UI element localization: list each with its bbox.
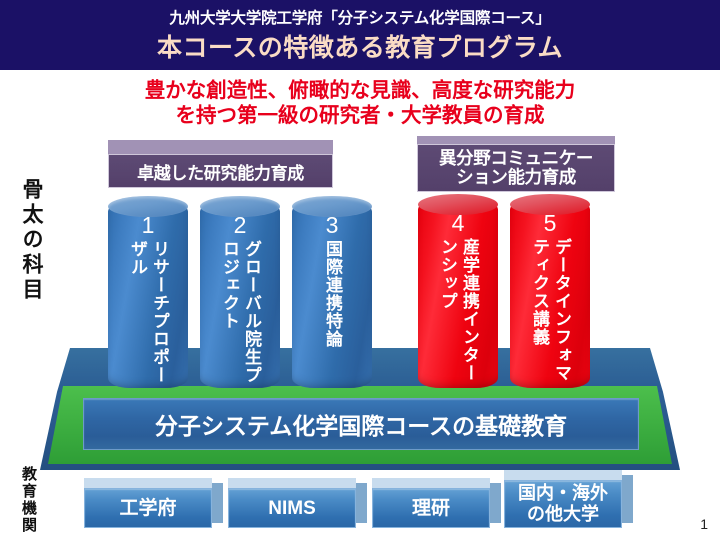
group-header-label: 卓越した研究能力育成 [137, 159, 304, 184]
cylinder-label: グローバル院生プロジェクト [218, 240, 262, 385]
institution-label: 理研 [412, 498, 450, 519]
box-front-face: 国内・海外 の他大学 [504, 480, 622, 528]
cylinder-label-wrap: 国際連携特論 [292, 240, 372, 385]
cylinder-number: 3 [292, 212, 372, 239]
cylinder-label-wrap: 産学連携インターンシップ [418, 238, 498, 383]
box-side-surface [356, 483, 367, 523]
cylinder-number: 5 [510, 210, 590, 237]
institution-box-4[interactable]: 国内・海外 の他大学 [504, 470, 622, 528]
course-cylinder-1[interactable]: 1 リサーチプロポーザル [108, 196, 188, 388]
box-front-face: 卓越した研究能力育成 [108, 154, 333, 188]
cylinder-label-wrap: グローバル院生プロジェクト [200, 240, 280, 385]
institution-label: NIMS [268, 498, 316, 519]
course-cylinder-5[interactable]: 5 データインフォマティクス講義 [510, 194, 590, 388]
course-cylinder-3[interactable]: 3 国際連携特論 [292, 196, 372, 388]
box-top-surface [108, 140, 333, 154]
subtitle-line-1: 豊かな創造性、俯瞰的な見識、高度な研究能力 [0, 78, 720, 103]
box-front-face: NIMS [228, 488, 356, 528]
side-label-institutions: 教育機関 [18, 466, 39, 534]
cylinder-label: リサーチプロポーザル [126, 240, 170, 385]
cylinder-label: 国際連携特論 [321, 240, 343, 348]
cylinder-label-wrap: リサーチプロポーザル [108, 240, 188, 385]
cylinder-label: 産学連携インターンシップ [436, 238, 480, 383]
cylinder-number: 1 [108, 212, 188, 239]
institution-label-line2: の他大学 [527, 504, 599, 525]
page-number: 1 [700, 516, 708, 532]
cylinder-number: 4 [418, 210, 498, 237]
box-front-face: 工学府 [84, 488, 212, 528]
course-cylinder-2[interactable]: 2 グローバル院生プロジェクト [200, 196, 280, 388]
institution-box-2[interactable]: NIMS [228, 478, 356, 528]
institution-box-1[interactable]: 工学府 [84, 478, 212, 528]
slide-header-banner: 九州大学大学院工学府「分子システム化学国際コース」 本コースの特徴ある教育プログ… [0, 0, 720, 70]
foundation-education-bar: 分子システム化学国際コースの基礎教育 [83, 398, 639, 450]
box-side-surface [622, 475, 633, 523]
subtitle-block: 豊かな創造性、俯瞰的な見識、高度な研究能力 を持つ第一級の研究者・大学教員の育成 [0, 78, 720, 128]
header-subtitle: 九州大学大学院工学府「分子システム化学国際コース」 [0, 6, 720, 28]
course-cylinder-4[interactable]: 4 産学連携インターンシップ [418, 194, 498, 388]
institution-box-3[interactable]: 理研 [372, 478, 490, 528]
box-top-surface [417, 136, 615, 144]
institution-label-line1: 国内・海外 [518, 483, 608, 504]
box-front-face: 異分野コミュニケー ション能力育成 [417, 144, 615, 192]
group-header-label-line1: 異分野コミュニケー [439, 148, 593, 169]
group-header-box-excellence[interactable]: 卓越した研究能力育成 [108, 140, 333, 188]
group-header-box-communication[interactable]: 異分野コミュニケー ション能力育成 [417, 136, 615, 192]
foundation-label: 分子システム化学国際コースの基礎教育 [155, 407, 567, 441]
subtitle-line-2: を持つ第一級の研究者・大学教員の育成 [0, 103, 720, 128]
box-side-surface [490, 483, 501, 523]
cylinder-label: データインフォマティクス講義 [528, 238, 572, 383]
group-header-label-line2: ション能力育成 [456, 167, 576, 188]
cylinder-label-wrap: データインフォマティクス講義 [510, 238, 590, 383]
box-front-face: 理研 [372, 488, 490, 528]
side-label-core-subjects: 骨太の科目 [16, 178, 46, 303]
box-side-surface [212, 483, 223, 523]
institution-label: 工学府 [119, 498, 176, 519]
page-title: 本コースの特徴ある教育プログラム [0, 28, 720, 64]
cylinder-number: 2 [200, 212, 280, 239]
